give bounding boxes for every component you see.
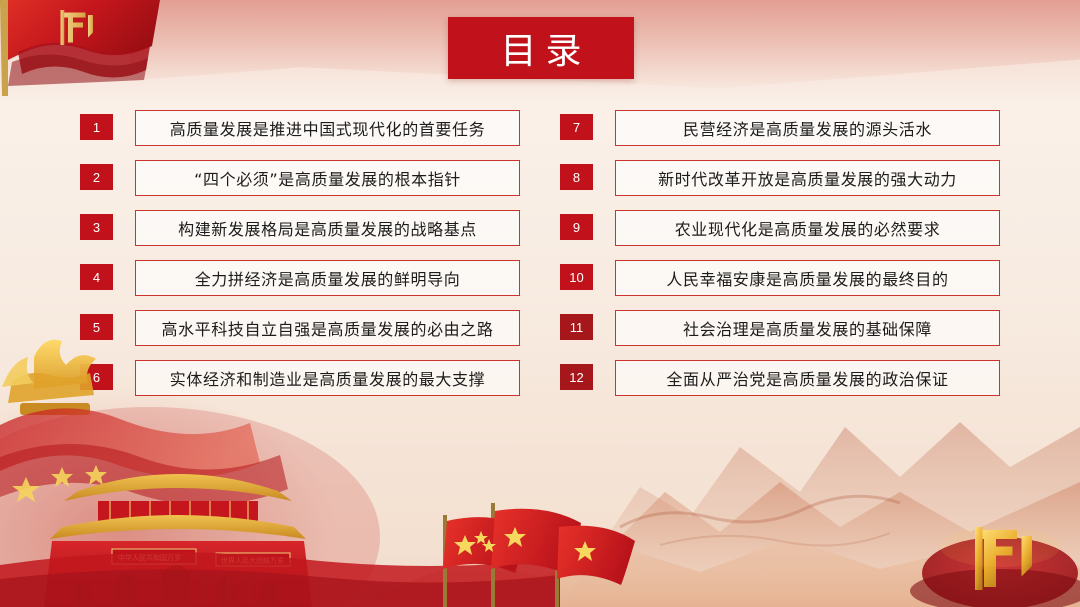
toc-entry[interactable]: 社会治理是高质量发展的基础保障	[615, 310, 1000, 346]
list-item[interactable]: 1 高质量发展是推进中国式现代化的首要任务	[80, 110, 530, 159]
list-item[interactable]: 9 农业现代化是高质量发展的必然要求	[560, 210, 1010, 259]
toc-entry-label: 人民幸福安康是高质量发展的最终目的	[666, 266, 948, 290]
list-item[interactable]: 10 人民幸福安康是高质量发展的最终目的	[560, 260, 1010, 309]
toc-number: 1	[80, 114, 113, 140]
toc-entry-label: 民营经济是高质量发展的源头活水	[683, 116, 932, 140]
party-flag-icon	[0, 0, 176, 104]
toc-entry[interactable]: 新时代改革开放是高质量发展的强大动力	[615, 160, 1000, 196]
toc-entry-label: 新时代改革开放是高质量发展的强大动力	[658, 166, 957, 190]
toc-entry-label: 全面从严治党是高质量发展的政治保证	[666, 366, 948, 390]
toc-entry[interactable]: 构建新发展格局是高质量发展的战略基点	[135, 210, 520, 246]
toc-entry[interactable]: 全面从严治党是高质量发展的政治保证	[615, 360, 1000, 396]
toc-entry-label: 高质量发展是推进中国式现代化的首要任务	[170, 116, 485, 140]
toc-entry-label: “四个必须”是高质量发展的根本指针	[194, 166, 461, 190]
toc-number: 2	[80, 164, 113, 190]
toc-entry[interactable]: 农业现代化是高质量发展的必然要求	[615, 210, 1000, 246]
slide-canvas: 目录 1 高质量发展是推进中国式现代化的首要任务 2 “四个必须”是高质量发展的…	[0, 0, 1080, 607]
list-item[interactable]: 11 社会治理是高质量发展的基础保障	[560, 310, 1010, 359]
toc-number: 10	[560, 264, 593, 290]
toc-right-column: 7 民营经济是高质量发展的源头活水 8 新时代改革开放是高质量发展的强大动力 9…	[560, 110, 1010, 410]
toc-entry-label: 社会治理是高质量发展的基础保障	[683, 316, 932, 340]
page-title-text: 目录	[491, 22, 590, 74]
page-title: 目录	[448, 17, 634, 79]
list-item[interactable]: 3 构建新发展格局是高质量发展的战略基点	[80, 210, 530, 259]
toc-number: 9	[560, 214, 593, 240]
toc-number: 12	[560, 364, 593, 390]
list-item[interactable]: 7 民营经济是高质量发展的源头活水	[560, 110, 1010, 159]
list-item[interactable]: 4 全力拼经济是高质量发展的鲜明导向	[80, 260, 530, 309]
toc-entry[interactable]: 民营经济是高质量发展的源头活水	[615, 110, 1000, 146]
toc-entry[interactable]: “四个必须”是高质量发展的根本指针	[135, 160, 520, 196]
toc-entry-label: 全力拼经济是高质量发展的鲜明导向	[195, 266, 461, 290]
toc-number: 3	[80, 214, 113, 240]
list-item[interactable]: 12 全面从严治党是高质量发展的政治保证	[560, 360, 1010, 409]
toc-entry[interactable]: 全力拼经济是高质量发展的鲜明导向	[135, 260, 520, 296]
toc-entry-label: 构建新发展格局是高质量发展的战略基点	[178, 216, 477, 240]
toc-entry[interactable]: 高质量发展是推进中国式现代化的首要任务	[135, 110, 520, 146]
toc-number: 11	[560, 314, 593, 340]
list-item[interactable]: 2 “四个必须”是高质量发展的根本指针	[80, 160, 530, 209]
national-flags-icon	[395, 497, 695, 607]
toc-entry[interactable]: 人民幸福安康是高质量发展的最终目的	[615, 260, 1000, 296]
toc-number: 7	[560, 114, 593, 140]
list-item[interactable]: 8 新时代改革开放是高质量发展的强大动力	[560, 160, 1010, 209]
toc-entry-label: 农业现代化是高质量发展的必然要求	[675, 216, 941, 240]
toc-number: 8	[560, 164, 593, 190]
party-emblem-icon	[880, 487, 1080, 607]
toc-number: 4	[80, 264, 113, 290]
